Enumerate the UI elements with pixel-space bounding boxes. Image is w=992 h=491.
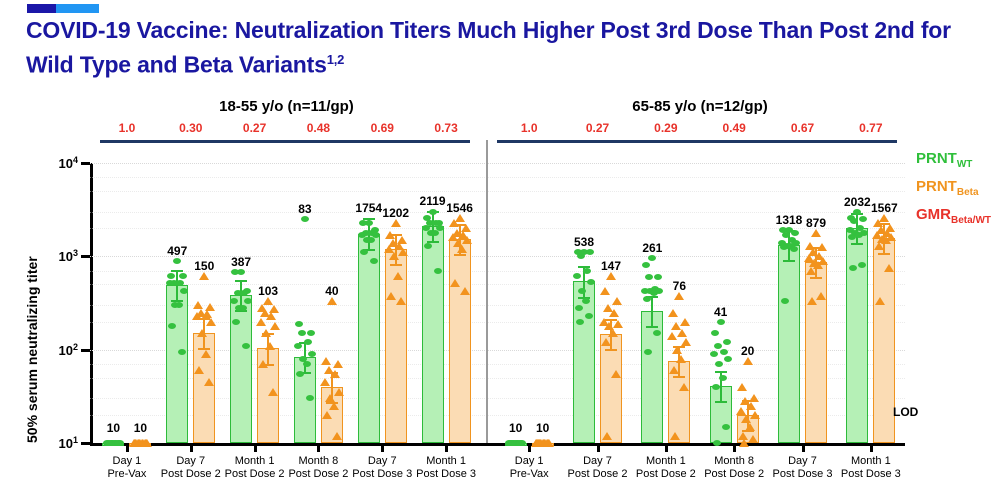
scatter-point — [816, 292, 826, 300]
scatter-point — [370, 258, 378, 264]
scatter-point — [717, 319, 725, 325]
scatter-point — [270, 322, 280, 330]
x-tick — [317, 443, 320, 452]
scatter-point — [791, 230, 799, 236]
scatter-point — [244, 298, 252, 304]
scatter-point — [242, 343, 250, 349]
scatter-point — [398, 248, 408, 256]
scatter-point — [650, 290, 658, 296]
scatter-point — [304, 339, 312, 345]
y-tick — [81, 349, 90, 352]
x-tick-label: Day 7Post Dose 3 — [352, 455, 412, 481]
error-bar-cap — [454, 254, 466, 256]
gmr-value-1-5: 0.77 — [859, 121, 882, 135]
scatter-point — [586, 249, 594, 255]
scatter-point — [608, 329, 618, 337]
scatter-point — [850, 218, 858, 224]
x-tick-label: Month 1Post Dose 3 — [416, 455, 476, 481]
bar-wt-1-5 — [846, 228, 868, 443]
scatter-point — [201, 350, 211, 358]
x-tick-label: Month 8Post Dose 2 — [288, 455, 348, 481]
scatter-point — [713, 440, 721, 446]
scatter-point — [173, 258, 181, 264]
scatter-point — [322, 411, 332, 419]
scatter-point — [600, 287, 610, 295]
scatter-point — [676, 355, 686, 363]
legend-gmr-subscript: Beta/WT — [951, 215, 991, 226]
scatter-point — [668, 309, 678, 317]
scatter-point — [192, 312, 202, 320]
scatter-point — [462, 236, 472, 244]
scatter-point — [256, 318, 266, 326]
scatter-point — [576, 319, 584, 325]
bar-value-label: 10 — [509, 421, 522, 435]
scatter-point — [231, 269, 239, 275]
bar-value-label: 261 — [642, 241, 662, 255]
scatter-point — [859, 216, 867, 222]
scatter-point — [672, 346, 682, 354]
error-bar — [432, 211, 434, 241]
x-label-line2: Post Dose 2 — [225, 468, 285, 481]
x-label-line2: Post Dose 2 — [704, 468, 764, 481]
scatter-point — [724, 356, 732, 362]
x-tick-label: Month 1Post Dose 2 — [636, 455, 696, 481]
scatter-point — [449, 219, 459, 227]
legend-prnt-beta-subscript: Beta — [957, 187, 979, 198]
error-bar-cap — [878, 253, 890, 255]
bar-value-label: 10 — [536, 421, 549, 435]
scatter-point — [722, 424, 730, 430]
scatter-point — [723, 339, 731, 345]
scatter-point — [654, 274, 662, 280]
scatter-point — [737, 383, 747, 391]
scatter-point — [817, 243, 827, 251]
scatter-point — [176, 280, 184, 286]
scatter-point — [450, 279, 460, 287]
bar-value-label: 10 — [107, 421, 120, 435]
scatter-point — [681, 338, 691, 346]
scatter-point — [204, 378, 214, 386]
scatter-point — [303, 361, 311, 367]
scatter-point — [434, 268, 442, 274]
scatter-point — [806, 267, 816, 275]
bar-value-label: 1318 — [776, 213, 803, 227]
scatter-point — [393, 272, 403, 280]
scatter-point — [105, 440, 113, 446]
grid-line-minor — [90, 177, 905, 179]
bar-wt-0-5 — [422, 226, 444, 443]
x-label-line2: Pre-Vax — [107, 468, 146, 481]
x-tick-label: Day 1Pre-Vax — [107, 455, 146, 481]
y-tick — [81, 162, 90, 165]
grid-line-minor — [90, 191, 905, 193]
scatter-point — [613, 320, 623, 328]
y-tick-label: 104 — [32, 155, 78, 171]
scatter-point — [712, 384, 720, 390]
scatter-point — [645, 274, 653, 280]
x-tick — [597, 443, 600, 452]
x-label-line2: Post Dose 2 — [161, 468, 221, 481]
scatter-point — [578, 288, 586, 294]
scatter-point — [330, 370, 340, 378]
scatter-point — [583, 268, 591, 274]
x-label-line2: Post Dose 2 — [288, 468, 348, 481]
bar-value-label: 20 — [741, 344, 754, 358]
scatter-point — [653, 330, 661, 336]
error-bar-cap — [646, 326, 658, 328]
grid-line — [90, 163, 905, 165]
x-tick — [802, 443, 805, 452]
scatter-point — [674, 292, 684, 300]
bar-wt-1-4 — [778, 245, 800, 443]
scatter-point — [298, 330, 306, 336]
bar-beta-1-4 — [805, 262, 827, 443]
bar-wt-0-4 — [358, 234, 380, 443]
scatter-point — [327, 297, 337, 305]
scatter-point — [642, 262, 650, 268]
scatter-point — [582, 298, 590, 304]
scatter-point — [874, 242, 884, 250]
x-tick-label: Day 7Post Dose 3 — [773, 455, 833, 481]
bar-value-label: 1567 — [871, 201, 898, 215]
scatter-point — [460, 287, 470, 295]
scatter-point — [367, 237, 375, 243]
legend-prnt-wt: PRNTWT — [916, 150, 972, 170]
scatter-point — [360, 249, 368, 255]
scatter-point — [719, 375, 727, 381]
scatter-point — [308, 351, 316, 357]
scatter-point — [780, 244, 788, 250]
scatter-point — [320, 378, 330, 386]
scatter-point — [429, 209, 437, 215]
bar-value-label: 10 — [134, 421, 147, 435]
x-label-line2: Post Dose 3 — [352, 468, 412, 481]
y-tick — [81, 442, 90, 445]
x-label-line2: Post Dose 3 — [773, 468, 833, 481]
scatter-point — [670, 432, 680, 440]
scatter-point — [710, 351, 718, 357]
scatter-point — [321, 357, 331, 365]
scatter-point — [736, 407, 746, 415]
error-bar-cap — [171, 270, 183, 272]
scatter-point — [667, 332, 677, 340]
scatter-point — [168, 323, 176, 329]
bar-value-label: 2119 — [420, 194, 446, 208]
gmr-value-1-0: 1.0 — [521, 121, 538, 135]
gmr-rule-0 — [100, 140, 470, 143]
scatter-point — [230, 298, 238, 304]
scatter-point — [534, 439, 544, 447]
x-label-line1: Day 7 — [161, 455, 221, 468]
scatter-point — [167, 273, 175, 279]
x-label-line2: Post Dose 2 — [636, 468, 696, 481]
x-tick — [665, 443, 668, 452]
legend-prnt-beta: PRNTBeta — [916, 178, 979, 198]
scatter-point — [396, 297, 406, 305]
scatter-point — [711, 330, 719, 336]
x-tick-label: Month 1Post Dose 2 — [225, 455, 285, 481]
bar-value-label: 879 — [806, 216, 826, 230]
scatter-point — [575, 305, 583, 311]
scatter-point — [714, 343, 722, 349]
legend-gmr: GMRBeta/WT — [916, 206, 991, 226]
scatter-point — [296, 371, 304, 377]
scatter-point — [258, 360, 268, 368]
scatter-point — [585, 313, 593, 319]
error-bar-cap — [673, 376, 685, 378]
y-axis-title: 50% serum neutralizing titer — [24, 256, 40, 443]
bar-value-label: 83 — [298, 202, 311, 216]
scatter-point — [679, 383, 689, 391]
scatter-point — [199, 272, 209, 280]
scatter-point — [268, 388, 278, 396]
gmr-value-1-2: 0.29 — [654, 121, 677, 135]
gmr-value-0-1: 0.30 — [179, 121, 202, 135]
scatter-point — [295, 321, 303, 327]
scatter-point — [166, 280, 174, 286]
scatter-point — [333, 360, 343, 368]
x-tick — [733, 443, 736, 452]
bar-value-label: 76 — [673, 279, 686, 293]
scatter-point — [175, 302, 183, 308]
bar-wt-0-2 — [230, 295, 252, 443]
scatter-point — [746, 402, 756, 410]
scatter-point — [884, 264, 894, 272]
gmr-value-1-3: 0.49 — [722, 121, 745, 135]
chart-area: 10110210310450% serum neutralizing titer… — [0, 0, 992, 491]
error-bar-cap — [235, 280, 247, 282]
x-tick — [254, 443, 257, 452]
x-label-line1: Month 1 — [841, 455, 901, 468]
scatter-point — [334, 388, 344, 396]
scatter-point — [332, 432, 342, 440]
bar-value-label: 387 — [231, 255, 251, 269]
x-label-line2: Post Dose 3 — [841, 468, 901, 481]
x-tick-label: Day 7Post Dose 2 — [568, 455, 628, 481]
scatter-point — [875, 297, 885, 305]
scatter-point — [294, 343, 302, 349]
lod-label: LOD — [893, 405, 918, 419]
scatter-point — [306, 395, 314, 401]
scatter-point — [715, 361, 723, 367]
scatter-point — [573, 273, 581, 279]
scatter-point — [848, 234, 856, 240]
scatter-point — [140, 439, 150, 447]
error-bar-cap — [605, 349, 617, 351]
scatter-point — [644, 349, 652, 355]
bar-beta-0-5 — [449, 239, 471, 443]
scatter-point — [266, 312, 276, 320]
x-label-line1: Day 7 — [352, 455, 412, 468]
scatter-point — [587, 279, 595, 285]
x-label-line1: Day 7 — [773, 455, 833, 468]
scatter-point — [232, 319, 240, 325]
scatter-point — [739, 439, 749, 447]
bar-value-label: 538 — [574, 235, 594, 249]
error-bar-cap — [851, 243, 863, 245]
bar-value-label: 41 — [714, 305, 727, 319]
scatter-point — [807, 297, 817, 305]
x-label-line1: Day 7 — [568, 455, 628, 468]
error-bar-cap — [783, 260, 795, 262]
bar-wt-0-1 — [166, 285, 188, 443]
bar-value-label: 150 — [194, 259, 214, 273]
error-bar-cap — [390, 264, 402, 266]
gmr-value-1-1: 0.27 — [586, 121, 609, 135]
scatter-point — [389, 252, 399, 260]
scatter-point — [179, 273, 187, 279]
x-tick — [381, 443, 384, 452]
scatter-point — [265, 342, 275, 350]
x-tick — [190, 443, 193, 452]
scatter-point — [197, 329, 207, 337]
x-axis — [90, 443, 905, 446]
scatter-point — [811, 229, 821, 237]
y-tick — [81, 255, 90, 258]
scatter-point — [720, 349, 728, 355]
x-label-line2: Post Dose 2 — [568, 468, 628, 481]
x-label-line1: Month 8 — [288, 455, 348, 468]
x-tick-label: Month 8Post Dose 2 — [704, 455, 764, 481]
scatter-point — [329, 402, 339, 410]
scatter-point — [178, 349, 186, 355]
scatter-point — [643, 296, 651, 302]
error-bar-cap — [715, 401, 727, 403]
gmr-rule-1 — [497, 140, 897, 143]
scatter-point — [194, 366, 204, 374]
x-label-line2: Post Dose 3 — [416, 468, 476, 481]
scatter-point — [750, 411, 760, 419]
scatter-point — [359, 220, 367, 226]
scatter-point — [385, 231, 395, 239]
gmr-value-0-4: 0.69 — [371, 121, 394, 135]
gmr-value-0-0: 1.0 — [119, 121, 136, 135]
bar-value-label: 40 — [325, 284, 338, 298]
scatter-point — [858, 262, 866, 268]
scatter-point — [743, 357, 753, 365]
bar-value-label: 2032 — [844, 195, 871, 209]
gmr-value-0-5: 0.73 — [434, 121, 457, 135]
x-label-line1: Month 1 — [636, 455, 696, 468]
scatter-point — [307, 330, 315, 336]
bar-value-label: 103 — [258, 284, 278, 298]
x-label-line1: Day 1 — [510, 455, 549, 468]
scatter-point — [648, 255, 656, 261]
scatter-point — [611, 370, 621, 378]
x-label-line1: Day 1 — [107, 455, 146, 468]
scatter-point — [601, 338, 611, 346]
bar-value-label: 1754 — [355, 201, 382, 215]
scatter-point — [240, 290, 248, 296]
x-tick — [445, 443, 448, 452]
panel-title-0: 18-55 y/o (n=11/gp) — [95, 98, 478, 115]
scatter-point — [612, 297, 622, 305]
legend-prnt-wt-subscript: WT — [957, 159, 973, 170]
scatter-point — [508, 440, 516, 446]
bar-value-label: 1546 — [446, 201, 473, 215]
scatter-point — [114, 440, 122, 446]
bar-value-label: 1202 — [382, 206, 409, 220]
panel-title-1: 65-85 y/o (n=12/gp) — [495, 98, 905, 115]
scatter-point — [745, 423, 755, 431]
scatter-point — [669, 366, 679, 374]
x-tick — [870, 443, 873, 452]
gmr-value-0-2: 0.27 — [243, 121, 266, 135]
scatter-point — [606, 272, 616, 280]
scatter-point — [609, 309, 619, 317]
scatter-point — [457, 245, 467, 253]
error-bar-cap — [810, 277, 822, 279]
scatter-point — [790, 246, 798, 252]
scatter-point — [748, 435, 758, 443]
scatter-point — [424, 243, 432, 249]
panel-divider — [486, 140, 488, 443]
scatter-point — [677, 329, 687, 337]
x-label-line1: Month 1 — [416, 455, 476, 468]
x-label-line1: Month 1 — [225, 455, 285, 468]
scatter-point — [239, 305, 247, 311]
scatter-point — [849, 265, 857, 271]
x-label-line2: Pre-Vax — [510, 468, 549, 481]
bar-value-label: 497 — [167, 244, 187, 258]
scatter-point — [602, 432, 612, 440]
scatter-point — [516, 440, 524, 446]
scatter-point — [680, 318, 690, 326]
x-tick-label: Day 7Post Dose 2 — [161, 455, 221, 481]
gmr-value-1-4: 0.67 — [791, 121, 814, 135]
scatter-point — [180, 288, 188, 294]
scatter-point — [261, 329, 271, 337]
scatter-point — [386, 292, 396, 300]
scatter-point — [431, 230, 439, 236]
bar-value-label: 147 — [601, 259, 621, 273]
scatter-point — [391, 219, 401, 227]
scatter-point — [853, 209, 861, 215]
scatter-point — [577, 253, 585, 259]
scatter-point — [781, 298, 789, 304]
scatter-point — [301, 216, 309, 222]
error-bar-cap — [715, 371, 727, 373]
x-tick-label: Day 1Pre-Vax — [510, 455, 549, 481]
x-tick-label: Month 1Post Dose 3 — [841, 455, 901, 481]
error-bar — [651, 296, 653, 326]
scatter-point — [206, 318, 216, 326]
scatter-point — [855, 232, 863, 238]
gmr-value-0-3: 0.48 — [307, 121, 330, 135]
x-label-line1: Month 8 — [704, 455, 764, 468]
